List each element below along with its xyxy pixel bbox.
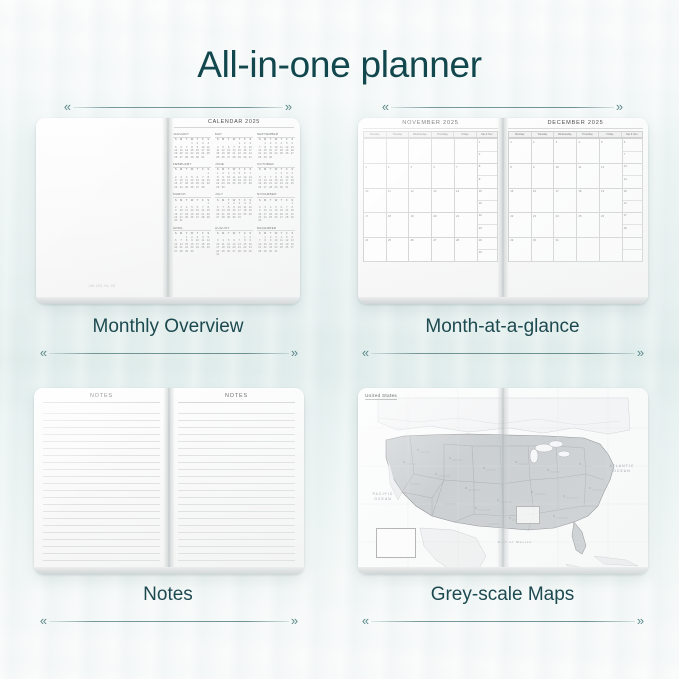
weekday-column-header: Friday (599, 132, 622, 137)
day-cell[interactable]: 20 (432, 213, 455, 238)
day-number: 30 (533, 238, 536, 242)
day-number: 9 (479, 177, 481, 181)
panel-grey-scale-maps: United States ATLANTIC OCEAN PACIFIC OCE… (350, 388, 655, 638)
weekday-column-header: Wednesday (554, 132, 577, 137)
rule-line (49, 353, 289, 354)
day-number: 1 (479, 140, 481, 144)
day-cell[interactable]: 17 (554, 189, 577, 214)
weekday-column-header: Sat & Sun (622, 132, 642, 137)
weekend-cell[interactable]: 67 (623, 139, 643, 164)
day-number (206, 250, 211, 253)
day-number: 27 (624, 213, 627, 217)
day-number: 22 (479, 213, 482, 217)
day-cell[interactable]: 4 (387, 164, 410, 189)
day-number: 10 (556, 165, 559, 169)
day-cell[interactable]: 3 (364, 164, 387, 189)
weekend-half[interactable]: 7 (623, 152, 642, 163)
weekend-cell[interactable]: 2728 (623, 213, 643, 238)
ocean-label-text: ATLANTIC OCEAN (610, 464, 635, 473)
weekday-column-header: Sat & Sun (477, 132, 497, 137)
day-number: 3 (556, 140, 558, 144)
day-number: 13 (624, 164, 627, 168)
day-number: 1 (510, 140, 512, 144)
day-number (248, 216, 253, 219)
day-cell[interactable]: 31 (554, 238, 577, 263)
day-cell[interactable]: 26 (409, 238, 432, 263)
day-cell[interactable]: 8 (509, 164, 532, 189)
mini-month: JANUARYSMTWTFS12345678910111213141516171… (173, 132, 211, 159)
mini-month-name: OCTOBER (257, 162, 295, 168)
day-number: 12 (411, 189, 414, 193)
day-number: 13 (433, 189, 436, 193)
day-cell[interactable]: 4 (577, 139, 600, 164)
panel-month-at-a-glance: NOVEMBER 2025 MondayTuesdayWednesdayThur… (350, 118, 655, 368)
day-number: 5 (411, 165, 413, 169)
ocean-label-text: Gulf of Mexico (498, 540, 533, 544)
day-cell[interactable]: 18 (577, 189, 600, 214)
chevron-right-icon: » (289, 347, 300, 359)
day-number: 15 (479, 189, 482, 193)
day-number (290, 156, 295, 159)
mini-month-week-row: 3031 (173, 219, 211, 222)
mini-month-name: MARCH (173, 192, 211, 198)
day-cell[interactable]: 15 (509, 189, 532, 214)
mini-month-week-row: 232425262728 (173, 186, 211, 189)
day-number: 11 (388, 189, 391, 193)
page-title: All-in-one planner (0, 44, 679, 86)
chevron-left-icon: « (62, 101, 73, 113)
day-number: 3 (365, 165, 367, 169)
rule-line (371, 621, 635, 622)
calendar-header: CALENDAR 2025 (174, 118, 294, 128)
day-number: 5 (601, 140, 603, 144)
day-cell[interactable] (577, 238, 600, 263)
weekend-cell[interactable]: 2930 (478, 238, 498, 263)
day-number (290, 186, 295, 189)
day-cell[interactable]: 18 (387, 213, 410, 238)
day-number: 28 (624, 226, 627, 230)
day-number: 21 (624, 201, 627, 205)
day-cell[interactable]: 5 (409, 164, 432, 189)
planner-book-calendar[interactable]: LW-192-HL-25 CALENDAR 2025 JANUARYSMTWTF… (36, 118, 300, 304)
day-number: 6 (624, 140, 626, 144)
day-number: 16 (533, 189, 536, 193)
weekday-column-header: Monday (364, 132, 387, 137)
mini-month: JUNESMTWTFS12345678910111213141516171819… (215, 162, 253, 189)
day-cell[interactable]: 21 (455, 213, 478, 238)
weekday-column-header: Tuesday (387, 132, 410, 137)
day-cell[interactable]: 16 (532, 189, 555, 214)
day-cell[interactable]: 27 (432, 238, 455, 263)
weekday-column-header: Tuesday (532, 132, 555, 137)
day-number (248, 253, 253, 256)
day-number: 31 (248, 156, 253, 159)
day-number: 27 (433, 238, 436, 242)
weekend-cell[interactable]: 1516 (478, 189, 498, 214)
notes-ruled-lines-left (43, 407, 160, 567)
weekend-half[interactable]: 15 (478, 189, 497, 201)
day-number: 18 (578, 189, 581, 193)
caption-notes: Notes (24, 584, 312, 606)
day-number: 17 (365, 214, 368, 218)
mini-calendar-grid: JANUARYSMTWTFS12345678910111213141516171… (168, 132, 300, 256)
ocean-label-gulf: Gulf of Mexico (496, 540, 534, 545)
day-cell[interactable]: 22 (509, 213, 532, 238)
mini-month-name: AUGUST (215, 226, 253, 232)
arrow-rule-grey-scale-maps: « » (360, 614, 646, 628)
day-cell[interactable]: 25 (387, 238, 410, 263)
day-number: 9 (533, 165, 535, 169)
weekend-cell[interactable] (623, 238, 643, 263)
mini-month-name: APRIL (173, 226, 211, 232)
planner-book-maps[interactable]: United States ATLANTIC OCEAN PACIFIC OCE… (358, 388, 648, 574)
chevron-right-icon: » (289, 615, 300, 627)
mini-month: AUGUSTSMTWTFS123456789101112131415161718… (215, 226, 253, 257)
chevron-right-icon: » (635, 615, 646, 627)
weekend-half[interactable]: 23 (478, 225, 497, 236)
day-cell[interactable]: 19 (409, 213, 432, 238)
day-number: 29 (510, 238, 513, 242)
day-cell[interactable]: 6 (432, 164, 455, 189)
chevron-left-icon: « (360, 347, 371, 359)
ocean-label-pacific: PACIFIC OCEAN (366, 492, 400, 501)
day-cell[interactable]: 11 (387, 189, 410, 214)
day-cell[interactable]: 23 (532, 213, 555, 238)
day-number: 4 (388, 165, 390, 169)
weekend-half[interactable]: 28 (623, 225, 642, 236)
weekend-cell[interactable]: 2223 (478, 213, 498, 238)
day-number: 28 (456, 238, 459, 242)
day-number: 12 (601, 165, 604, 169)
day-cell[interactable]: 14 (455, 189, 478, 214)
mini-month: MARCHSMTWTFS1234567891011121314151617181… (173, 192, 211, 223)
book-page-right: NOTES (169, 388, 304, 574)
day-cell[interactable]: 10 (364, 189, 387, 214)
day-number: 8 (510, 165, 512, 169)
day-cell[interactable] (455, 139, 478, 164)
day-cell[interactable]: 5 (600, 139, 623, 164)
day-cell[interactable]: 24 (364, 238, 387, 263)
day-cell[interactable]: 2 (532, 139, 555, 164)
day-cell[interactable] (387, 139, 410, 164)
weekend-cell[interactable]: 89 (478, 164, 498, 189)
month-header-right: DECEMBER 2025 (508, 118, 643, 129)
weekend-half[interactable]: 2 (478, 152, 497, 163)
chevron-left-icon: « (38, 615, 49, 627)
day-cell[interactable]: 30 (532, 238, 555, 263)
mini-month-name: SEPTEMBER (257, 132, 295, 138)
day-number: 23 (533, 214, 536, 218)
weekend-cell[interactable]: 1314 (623, 164, 643, 189)
chevron-right-icon: » (614, 101, 625, 113)
planner-book-month[interactable]: NOVEMBER 2025 MondayTuesdayWednesdayThur… (358, 118, 648, 304)
weekend-half[interactable]: 30 (478, 250, 497, 261)
weekend-cell[interactable]: 2021 (623, 189, 643, 214)
day-cell[interactable]: 12 (409, 189, 432, 214)
weekend-cell[interactable]: 12 (478, 139, 498, 164)
weekday-column-header: Friday (454, 132, 477, 137)
weekend-half[interactable]: 20 (623, 189, 642, 201)
weekend-half[interactable]: 16 (478, 201, 497, 212)
mini-month-week-row: 25262728293031 (215, 156, 253, 159)
mini-month: JULYSMTWTFS12345678910111213141516171819… (215, 192, 253, 223)
day-number: 17 (556, 189, 559, 193)
book-page-left: LW-192-HL-25 (36, 118, 168, 304)
day-cell[interactable] (409, 139, 432, 164)
mini-month-week-row: 31 (215, 253, 253, 256)
weekday-column-header: Thursday (577, 132, 600, 137)
day-cell[interactable]: 13 (432, 189, 455, 214)
day-number: 30 (479, 250, 482, 254)
panel-notes: NOTES NOTES Notes « » (24, 388, 312, 638)
day-number (290, 250, 295, 253)
day-number: 22 (510, 214, 513, 218)
weekend-half[interactable] (623, 238, 642, 250)
day-cell[interactable]: 24 (554, 213, 577, 238)
day-cell[interactable]: 12 (600, 164, 623, 189)
day-cell[interactable]: 3 (554, 139, 577, 164)
day-number: 14 (624, 177, 627, 181)
day-cell[interactable] (600, 238, 623, 263)
weekday-column-header: Wednesday (409, 132, 432, 137)
book-page-right: DECEMBER 2025 MondayTuesdayWednesdayThur… (503, 118, 648, 304)
mini-month-name: FEBRUARY (173, 162, 211, 168)
mini-month-name: JULY (215, 192, 253, 198)
mini-month: MAYSMTWTFS123456789101112131415161718192… (215, 132, 253, 159)
day-number: 24 (365, 238, 368, 242)
mini-month-week-row: 2728293031 (215, 216, 253, 219)
day-cell[interactable]: 28 (455, 238, 478, 263)
mini-month-name: DECEMBER (257, 226, 295, 232)
mini-month-week-row: 282930 (257, 156, 295, 159)
weekend-half[interactable]: 21 (623, 201, 642, 212)
weekday-header-row-left: MondayTuesdayWednesdayThursdayFridaySat … (363, 131, 498, 138)
chevron-left-icon: « (360, 615, 371, 627)
rule-line (49, 621, 289, 622)
day-cell[interactable]: 1 (509, 139, 532, 164)
day-number: 11 (578, 165, 581, 169)
mini-month-name: MAY (215, 132, 253, 138)
mini-month-week-row: 262728293031 (257, 186, 295, 189)
day-number: 4 (578, 140, 580, 144)
weekend-half[interactable]: 27 (623, 213, 642, 225)
weekend-half[interactable]: 6 (623, 139, 642, 151)
day-number: 6 (433, 165, 435, 169)
weekend-half[interactable]: 13 (623, 164, 642, 176)
infographic-canvas: All-in-one planner « » « » LW-192-HL-25 … (0, 0, 679, 679)
mini-month: OCTOBERSMTWTFS12345678910111213141516171… (257, 162, 295, 189)
page-code-label: LW-192-HL-25 (36, 284, 168, 288)
book-page-left: NOTES (34, 388, 169, 574)
weekend-half[interactable]: 14 (623, 176, 642, 187)
planner-book-notes[interactable]: NOTES NOTES (34, 388, 304, 574)
panel-monthly-overview: LW-192-HL-25 CALENDAR 2025 JANUARYSMTWTF… (24, 118, 312, 368)
day-number: 26 (411, 238, 414, 242)
weekend-half[interactable]: 8 (478, 164, 497, 176)
day-cell[interactable]: 26 (600, 213, 623, 238)
weekday-header-row-right: MondayTuesdayWednesdayThursdayFridaySat … (508, 131, 643, 138)
day-number: 29 (479, 238, 482, 242)
day-number: 14 (456, 189, 459, 193)
day-cell[interactable]: 19 (600, 189, 623, 214)
notes-header-left: NOTES (43, 388, 160, 403)
day-cell[interactable] (364, 139, 387, 164)
chevron-left-icon: « (38, 347, 49, 359)
arrow-rule-monthly-overview: « » (38, 346, 300, 360)
day-number: 2 (533, 140, 535, 144)
book-page-right: CALENDAR 2025 JANUARYSMTWTFS123456789101… (168, 118, 300, 304)
day-number: 16 (479, 201, 482, 205)
day-number: 24 (556, 214, 559, 218)
arrow-rule-notes: « » (38, 614, 300, 628)
arrow-rule-month-at-a-glance: « » (360, 346, 646, 360)
weekday-column-header: Thursday (432, 132, 455, 137)
day-number: 25 (578, 214, 581, 218)
weekend-half[interactable]: 9 (478, 176, 497, 187)
day-cell[interactable]: 25 (577, 213, 600, 238)
caption-monthly-overview: Monthly Overview (24, 316, 312, 338)
day-cell[interactable] (432, 139, 455, 164)
day-number (290, 219, 295, 222)
mini-month-week-row: 262728293031 (173, 156, 211, 159)
mini-month-week-row: 28293031 (257, 250, 295, 253)
day-number: 20 (433, 214, 436, 218)
chevron-right-icon: » (635, 347, 646, 359)
mini-month-week-row: 2930 (215, 186, 253, 189)
chevron-left-icon: « (380, 101, 391, 113)
day-number (206, 219, 211, 222)
month-header-left: NOVEMBER 2025 (363, 118, 498, 129)
mini-month: APRILSMTWTFS1234567891011121314151617181… (173, 226, 211, 257)
caption-month-at-a-glance: Month-at-a-glance (350, 316, 655, 338)
day-number: 19 (601, 189, 604, 193)
arrow-rule-top-right: « » (380, 100, 625, 114)
day-number: 8 (479, 164, 481, 168)
day-number: 19 (411, 214, 414, 218)
day-number: 10 (365, 189, 368, 193)
mini-month: NOVEMBERSMTWTFS1234567891011121314151617… (257, 192, 295, 223)
rule-line (73, 107, 283, 108)
mini-month-week-row: 27282930 (173, 250, 211, 253)
day-number: 20 (624, 189, 627, 193)
day-number: 7 (624, 152, 626, 156)
notes-ruled-lines-right (178, 407, 295, 567)
month-grid-right: 1234567891011121314151617181920212223242… (508, 138, 643, 262)
mini-month: FEBRUARYSMTWTFS1234567891011121314151617… (173, 162, 211, 189)
weekend-half[interactable]: 1 (478, 139, 497, 151)
day-number: 18 (388, 214, 391, 218)
day-number: 15 (510, 189, 513, 193)
day-number (206, 156, 211, 159)
ocean-label-text: PACIFIC OCEAN (373, 492, 394, 501)
weekday-column-header: Monday (509, 132, 532, 137)
chevron-right-icon: » (283, 101, 294, 113)
day-number: 21 (456, 214, 459, 218)
day-number (248, 186, 253, 189)
weekend-half[interactable] (623, 250, 642, 261)
mini-month-name: JANUARY (173, 132, 211, 138)
arrow-rule-top-left: « » (62, 100, 294, 114)
mini-month-name: JUNE (215, 162, 253, 168)
notes-header-right: NOTES (178, 388, 295, 403)
day-number: 25 (388, 238, 391, 242)
month-grid-left: 1234567891011121314151617181920212223242… (363, 138, 498, 262)
day-cell[interactable]: 17 (364, 213, 387, 238)
rule-line (391, 107, 614, 108)
mini-month: DECEMBERSMTWTFS1234567891011121314151617… (257, 226, 295, 257)
map-inset-hawaii (516, 506, 540, 524)
mini-month: SEPTEMBERSMTWTFS123456789101112131415161… (257, 132, 295, 159)
day-cell[interactable]: 10 (554, 164, 577, 189)
day-cell[interactable]: 11 (577, 164, 600, 189)
caption-grey-scale-maps: Grey-scale Maps (350, 584, 655, 606)
day-cell[interactable]: 29 (509, 238, 532, 263)
mini-month-name: NOVEMBER (257, 192, 295, 198)
weekend-half[interactable]: 22 (478, 213, 497, 225)
day-number: 23 (479, 226, 482, 230)
rule-line (371, 353, 635, 354)
map-illustration: United States ATLANTIC OCEAN PACIFIC OCE… (358, 388, 648, 574)
day-number (206, 186, 211, 189)
mini-month-week-row: 30 (257, 219, 295, 222)
weekend-half[interactable]: 29 (478, 238, 497, 250)
day-cell[interactable]: 9 (532, 164, 555, 189)
book-page-left: NOVEMBER 2025 MondayTuesdayWednesdayThur… (358, 118, 503, 304)
day-number: 2 (479, 152, 481, 156)
day-cell[interactable]: 7 (455, 164, 478, 189)
map-inset-alaska (376, 528, 416, 558)
ocean-label-atlantic: ATLANTIC OCEAN (604, 464, 640, 473)
day-number: 26 (601, 214, 604, 218)
day-number: 7 (456, 165, 458, 169)
map-title-label: United States (365, 393, 397, 400)
day-number: 31 (556, 238, 559, 242)
